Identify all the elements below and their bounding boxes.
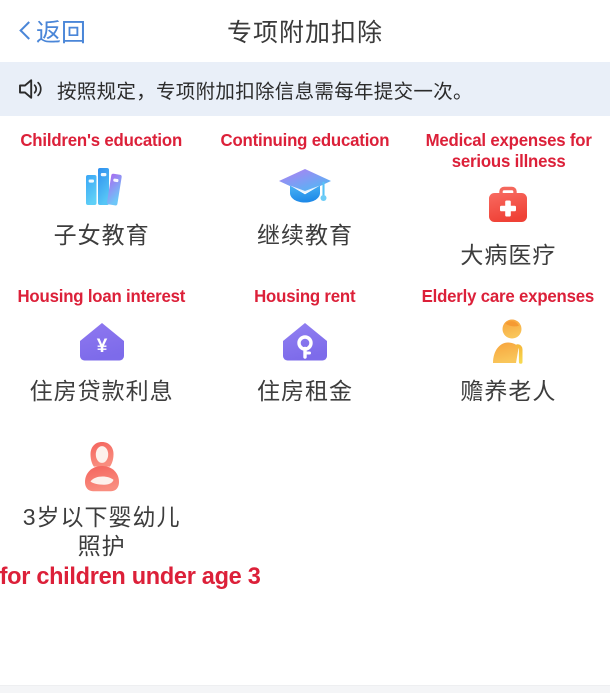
deduction-item-housing-loan-interest[interactable]: Housing loan interest ¥ 住房贷款利息: [0, 280, 203, 415]
house-yuan-icon: ¥: [76, 311, 128, 373]
deduction-caption-en: Continuing education: [221, 130, 390, 151]
books-icon: [75, 155, 129, 217]
deduction-label-zh: 子女教育: [54, 221, 150, 250]
first-aid-kit-icon: [483, 175, 533, 237]
chevron-left-icon: [18, 20, 33, 42]
house-key-icon: [279, 311, 331, 373]
deduction-label-zh: 住房贷款利息: [30, 377, 174, 406]
page-title: 专项附加扣除: [0, 13, 610, 49]
deduction-caption-en: Medical expenses for serious illness: [415, 130, 603, 171]
graduation-cap-icon: [276, 155, 334, 217]
deduction-caption-en: Housing loan interest: [18, 286, 186, 307]
deduction-label-zh: 赡养老人: [460, 377, 556, 406]
deduction-label-zh: 住房租金: [257, 377, 353, 406]
deduction-caption-en: Elderly care expenses: [422, 286, 594, 307]
deduction-caption-en: Housing rent: [254, 286, 355, 307]
deduction-item-elderly-care[interactable]: Elderly care expenses 赡养老人: [407, 280, 610, 415]
elderly-person-icon: [483, 311, 533, 373]
deduction-caption-en: Children's education: [21, 130, 183, 151]
deduction-item-housing-rent[interactable]: Housing rent 住房租金: [203, 280, 406, 415]
deduction-caption-en: Care for children under age 3: [0, 563, 261, 591]
deduction-grid: Children's education: [0, 116, 610, 601]
back-button-label: 返回: [36, 13, 86, 49]
bottom-strip: [0, 685, 610, 693]
svg-text:¥: ¥: [96, 336, 107, 357]
deduction-label-zh: 3岁以下婴幼儿照护: [12, 503, 192, 561]
mother-and-baby-icon: [78, 437, 126, 499]
deduction-item-childcare-under-3[interactable]: 3岁以下婴幼儿照护 Care for children under age 3: [0, 415, 203, 601]
deduction-label-zh: 大病医疗: [460, 241, 556, 270]
back-button[interactable]: 返回: [18, 13, 86, 49]
deduction-label-zh: 继续教育: [257, 221, 353, 250]
deduction-item-serious-illness[interactable]: Medical expenses for serious illness 大病医…: [407, 124, 610, 280]
notice-text: 按照规定，专项附加扣除信息需每年提交一次。: [57, 75, 473, 104]
deduction-item-continuing-education[interactable]: Continuing education 继续教育: [203, 124, 406, 280]
notice-banner: 按照规定，专项附加扣除信息需每年提交一次。: [0, 62, 610, 116]
deduction-item-children-education[interactable]: Children's education: [0, 124, 203, 280]
speaker-announcement-icon: [18, 77, 44, 101]
page-header: 返回 专项附加扣除: [0, 0, 610, 62]
